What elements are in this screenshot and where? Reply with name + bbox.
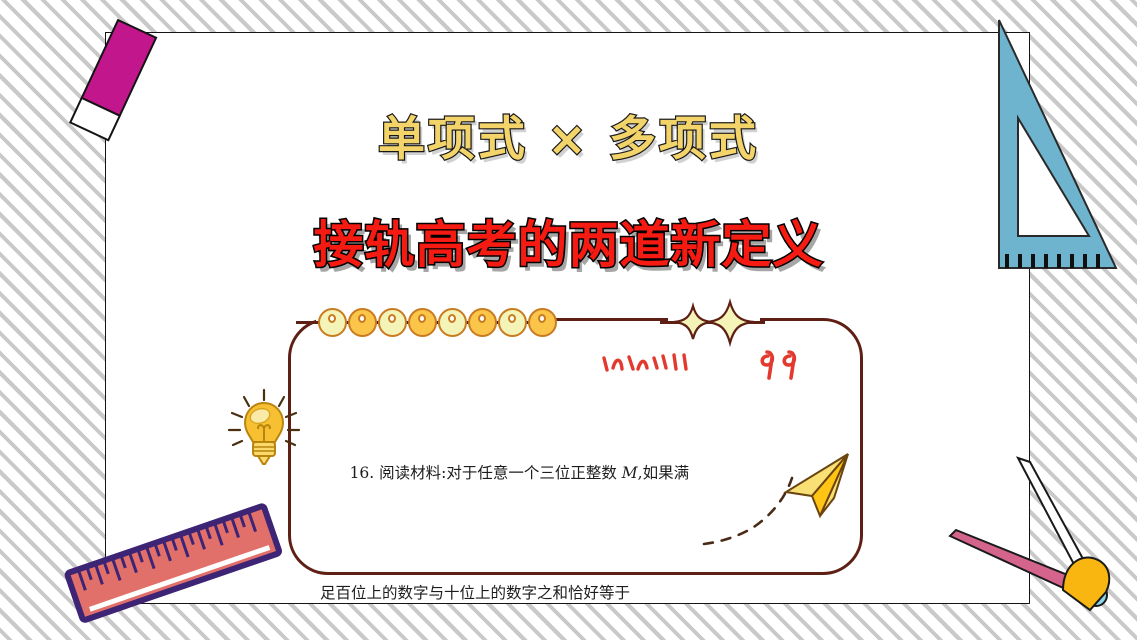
bead <box>498 308 527 337</box>
paper-plane-icon <box>700 440 865 550</box>
bead-string-decoration <box>296 300 556 344</box>
bead <box>318 308 347 337</box>
bead <box>468 308 497 337</box>
slide-canvas: 单项式 × 多项式 接轨高考的两道新定义 <box>0 0 1137 640</box>
problem-line-1c: ,如果满 <box>638 464 689 482</box>
problem-line-2: 足百位上的数字与十位上的数字之和恰好等于 <box>320 578 790 608</box>
page-subtitle: 接轨高考的两道新定义 <box>0 205 1137 277</box>
problem-line-1b: :对于任意一个三位正整数 <box>441 464 622 482</box>
ruler-icon <box>62 498 287 633</box>
bead <box>438 308 467 337</box>
bead <box>528 308 557 337</box>
compass-icon <box>920 440 1135 635</box>
bead <box>378 308 407 337</box>
bead <box>348 308 377 337</box>
lightbulb-icon <box>222 385 307 470</box>
problem-line-1a: 16. 阅读材料 <box>350 464 442 482</box>
sparkle-decoration <box>660 300 765 345</box>
sparkle-large <box>706 302 754 343</box>
bead <box>408 308 437 337</box>
problem-line-1-var: M <box>622 464 638 482</box>
plane-trail <box>704 478 792 544</box>
page-title: 单项式 × 多项式 <box>0 100 1137 169</box>
